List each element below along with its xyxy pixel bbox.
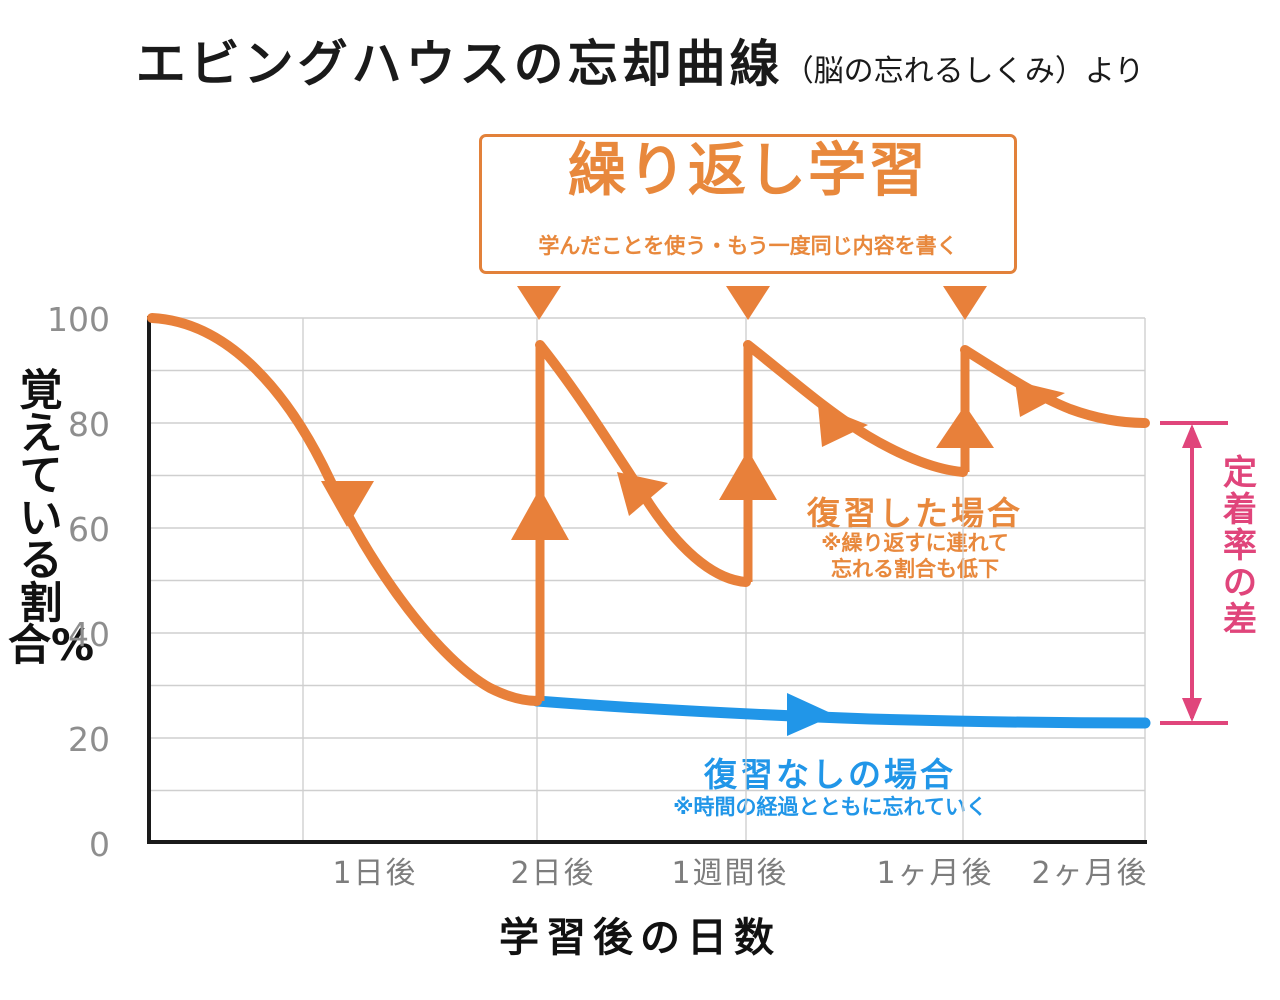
arrow-marker-decay-1	[321, 481, 374, 527]
arrow-marker-not-reviewed	[787, 693, 835, 736]
series-line-not-reviewed	[537, 701, 1145, 723]
gap-arrow-head-top	[1182, 424, 1202, 448]
review-jump-arrow-3	[936, 405, 994, 448]
series-line-reviewed-seg3	[748, 345, 963, 472]
arrow-marker-decay-2	[617, 472, 668, 516]
series-line-reviewed-seg4	[965, 350, 1145, 423]
gap-arrow-head-bottom	[1182, 698, 1202, 722]
review-marker-triangle-2	[726, 286, 770, 320]
review-marker-triangle-3	[943, 286, 987, 320]
series-line-reviewed-seg2	[540, 345, 746, 582]
retention-gap-bracket	[1160, 423, 1228, 723]
chart-canvas: エビングハウスの忘却曲線（脳の忘れるしくみ）より 繰り返し学習 学んだことを使う…	[0, 0, 1280, 1000]
arrow-marker-decay-3	[818, 405, 868, 447]
plot-svg	[0, 0, 1280, 1000]
review-jump-arrow-1	[511, 488, 569, 540]
review-marker-triangle-1	[517, 286, 561, 320]
